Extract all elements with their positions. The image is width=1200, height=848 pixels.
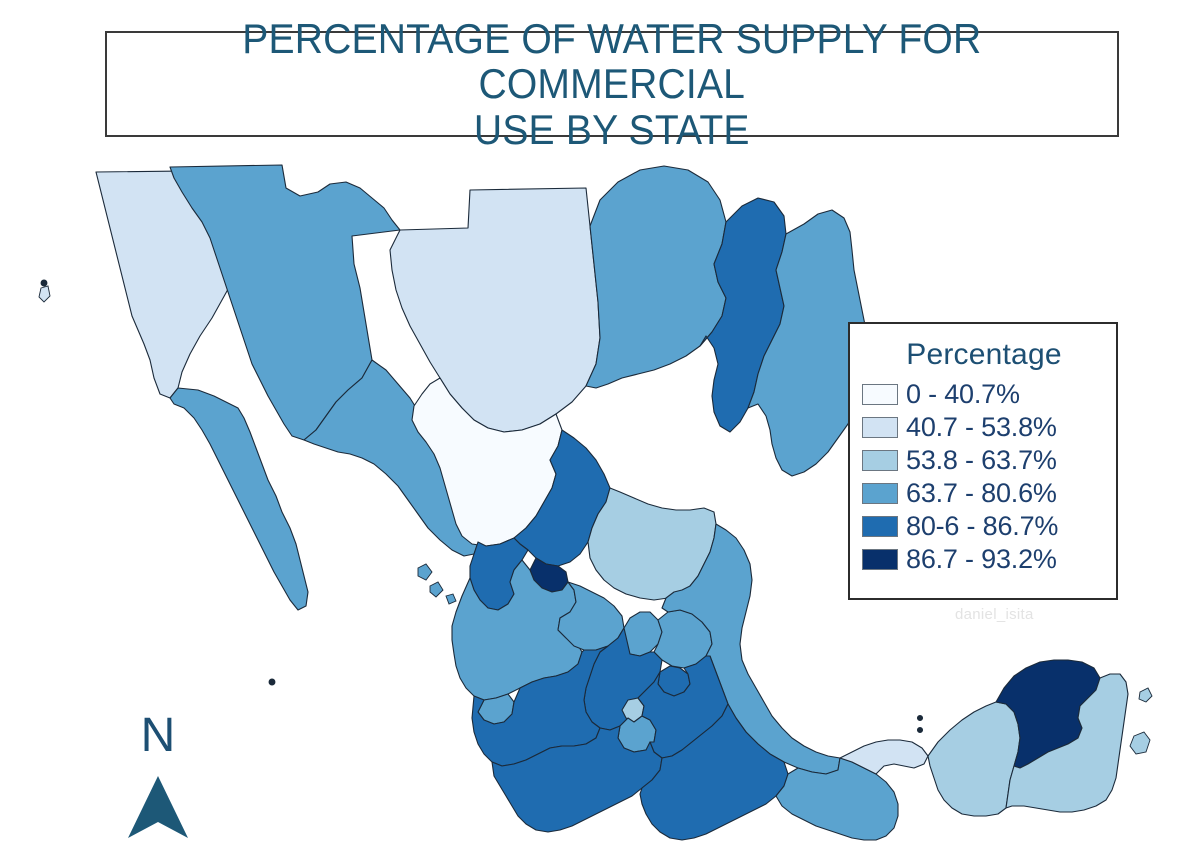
islet-dot-3 — [269, 679, 275, 685]
island-cozumel — [1130, 732, 1150, 754]
legend-item[interactable]: 0 - 40.7% — [862, 378, 1106, 411]
legend-swatch-icon — [862, 516, 898, 537]
north-arrow: N — [118, 712, 198, 842]
island-isla-mujeres — [1139, 688, 1152, 702]
legend-swatch-icon — [862, 384, 898, 405]
legend-item[interactable]: 86.7 - 93.2% — [862, 543, 1106, 576]
islet-dot-2 — [917, 727, 922, 732]
legend-item-label: 40.7 - 53.8% — [906, 414, 1057, 441]
legend-item-label: 80-6 - 86.7% — [906, 513, 1058, 540]
island-islas-marias-3 — [446, 594, 456, 604]
legend-swatch-icon — [862, 483, 898, 504]
legend-swatch-icon — [862, 549, 898, 570]
state-coahuila[interactable] — [586, 166, 726, 388]
islet-dot-1 — [917, 715, 922, 720]
legend-swatch-icon — [862, 417, 898, 438]
map-canvas: Percentage 0 - 40.7% 40.7 - 53.8% 53.8 -… — [0, 140, 1200, 848]
legend-item[interactable]: 40.7 - 53.8% — [862, 411, 1106, 444]
legend-swatch-icon — [862, 450, 898, 471]
legend-item[interactable]: 63.7 - 80.6% — [862, 477, 1106, 510]
legend: Percentage 0 - 40.7% 40.7 - 53.8% 53.8 -… — [848, 322, 1118, 600]
island-guadalupe — [39, 286, 50, 302]
page-title: PERCENTAGE OF WATER SUPPLY FOR COMMERCIA… — [161, 16, 1063, 152]
legend-title: Percentage — [862, 338, 1106, 372]
north-arrow-letter: N — [118, 712, 198, 760]
island-islas-marias — [418, 564, 432, 580]
north-arrow-icon — [118, 774, 198, 840]
islet-dot-4 — [41, 280, 47, 286]
state-campeche[interactable] — [928, 702, 1020, 816]
island-islas-marias-2 — [430, 582, 443, 597]
legend-item[interactable]: 53.8 - 63.7% — [862, 444, 1106, 477]
title-box: PERCENTAGE OF WATER SUPPLY FOR COMMERCIA… — [105, 31, 1119, 137]
legend-item-label: 86.7 - 93.2% — [906, 546, 1057, 573]
legend-item[interactable]: 80-6 - 86.7% — [862, 510, 1106, 543]
legend-item-label: 0 - 40.7% — [906, 381, 1020, 408]
legend-item-label: 63.7 - 80.6% — [906, 480, 1057, 507]
watermark: daniel_isita — [955, 606, 1034, 623]
legend-item-label: 53.8 - 63.7% — [906, 447, 1057, 474]
map-page: PERCENTAGE OF WATER SUPPLY FOR COMMERCIA… — [0, 0, 1200, 848]
